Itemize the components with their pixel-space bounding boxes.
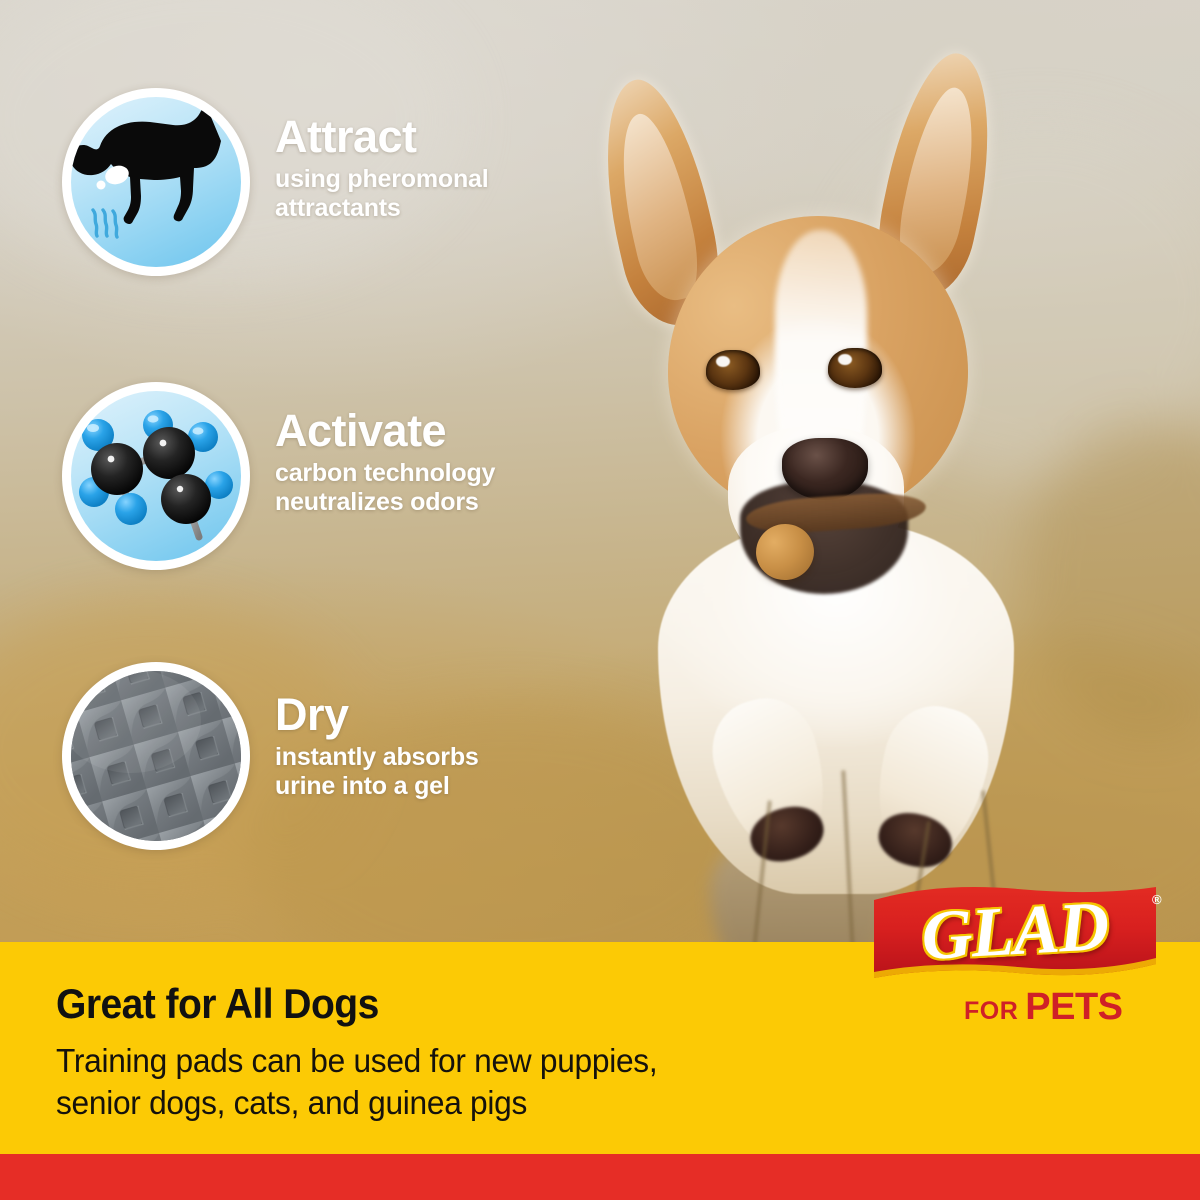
- feature-text: Dry instantly absorbs urine into a gel: [275, 692, 575, 801]
- feature-badge: [62, 88, 250, 276]
- product-feature-ad: Attract using pheromonal attractants: [0, 0, 1200, 1200]
- feature-title: Dry: [275, 692, 575, 737]
- quilted-absorbent-texture-icon: [71, 671, 241, 841]
- feature-subtitle: using pheromonal attractants: [275, 165, 575, 223]
- logo-wordmark: GLAD: [865, 876, 1164, 988]
- tagline-for: FOR: [964, 997, 1018, 1026]
- dog-eye-right: [828, 348, 882, 388]
- feature-title: Activate: [275, 408, 575, 453]
- registered-trademark-icon: ®: [1152, 892, 1162, 907]
- feature-list: Attract using pheromonal attractants: [0, 0, 600, 942]
- band-body-text: Training pads can be used for new puppie…: [56, 1040, 657, 1123]
- feature-item-attract: Attract using pheromonal attractants: [62, 88, 582, 278]
- feature-title: Attract: [275, 114, 575, 159]
- carbon-molecule-icon: [71, 391, 241, 561]
- feature-item-activate: Activate carbon technology neutralizes o…: [62, 382, 582, 572]
- feature-text: Attract using pheromonal attractants: [275, 114, 575, 223]
- feature-subtitle: carbon technology neutralizes odors: [275, 459, 575, 517]
- band-headline: Great for All Dogs: [56, 980, 379, 1028]
- running-dog: [560, 30, 1120, 942]
- feature-badge: [62, 382, 250, 570]
- feature-subtitle: instantly absorbs urine into a gel: [275, 743, 575, 801]
- dog-nose: [782, 438, 868, 500]
- feature-item-dry: Dry instantly absorbs urine into a gel: [62, 662, 582, 852]
- feature-text: Activate carbon technology neutralizes o…: [275, 408, 575, 517]
- logo-tagline: FOR PETS: [964, 986, 1123, 1029]
- tagline-pets: PETS: [1025, 986, 1122, 1029]
- bottom-red-strip: [0, 1154, 1200, 1200]
- dog-eye-left: [706, 350, 760, 390]
- dog-sniffing-icon: [71, 97, 241, 267]
- feature-badge: [62, 662, 250, 850]
- glad-logo: GLAD ® FOR PETS: [868, 886, 1168, 1046]
